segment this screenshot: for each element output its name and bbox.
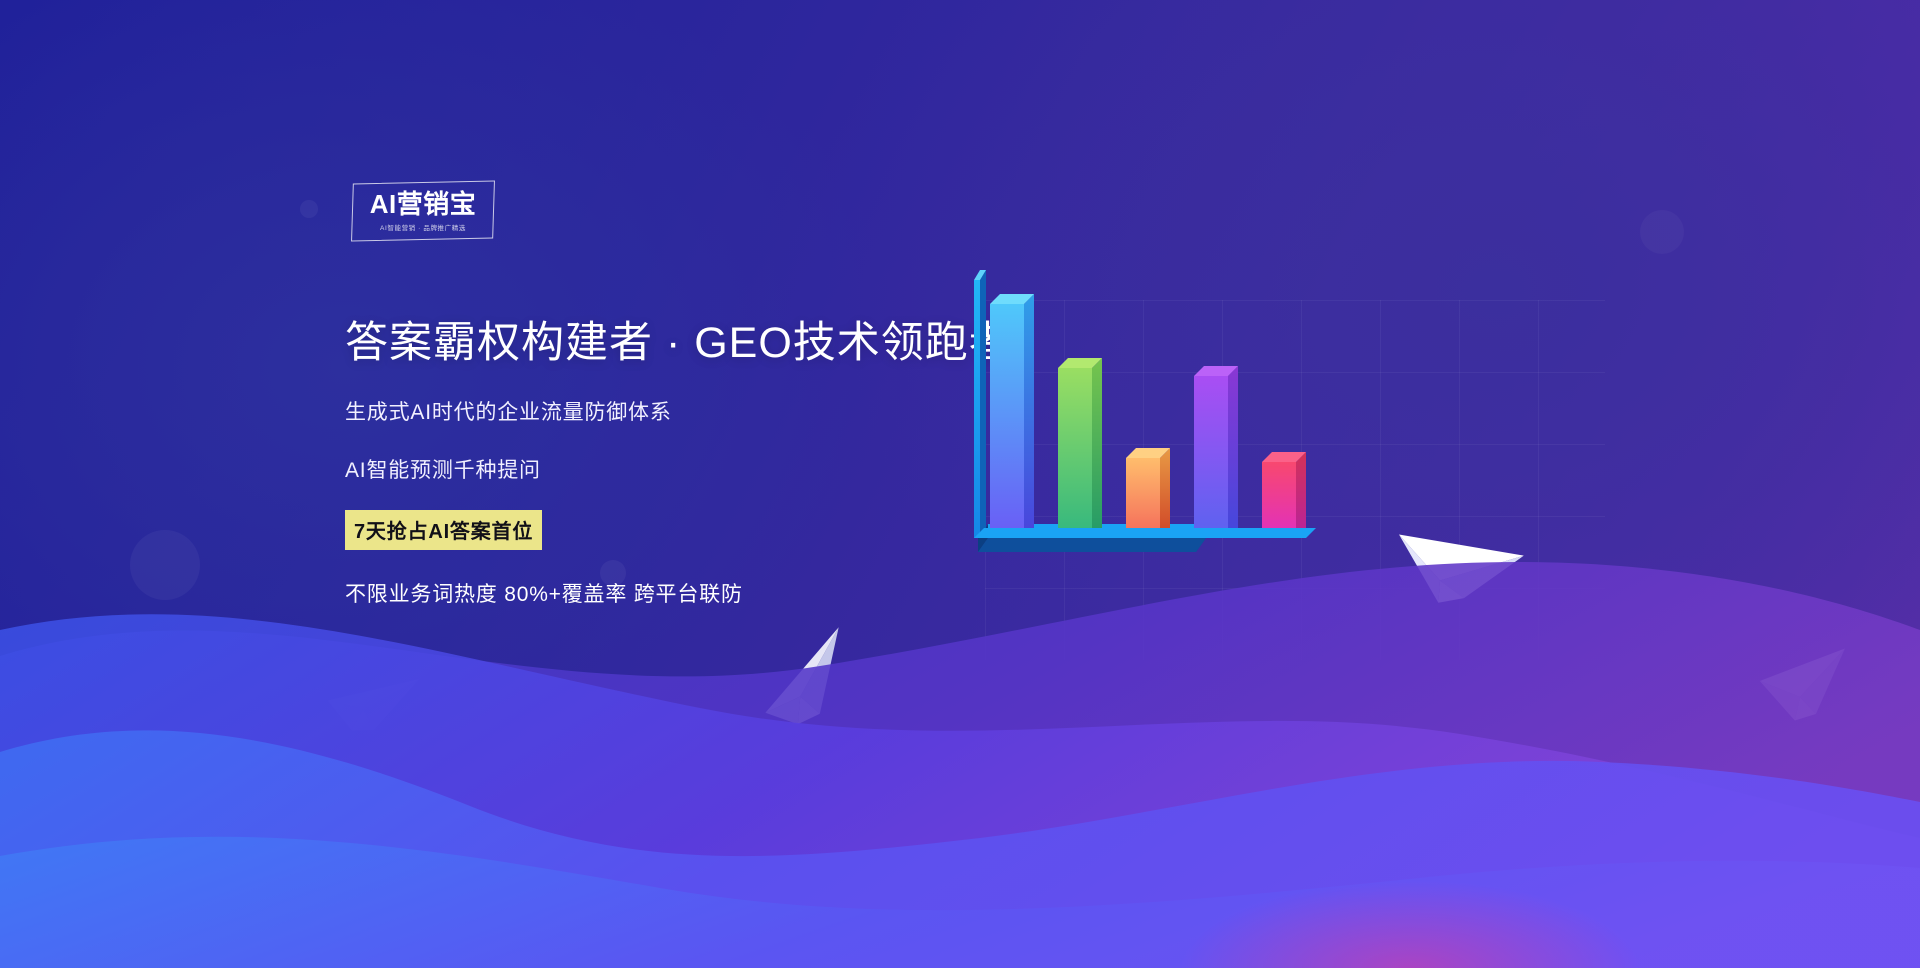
chart-bar-2	[1058, 358, 1102, 538]
chart-bar-4	[1194, 366, 1238, 538]
brand-logo[interactable]: AI营销宝 AI智能营销 · 品牌推广精选	[352, 182, 494, 240]
deco-circle-3	[1640, 210, 1684, 254]
hero-banner: AI营销宝 AI智能营销 · 品牌推广精选 答案霸权构建者 · GEO技术领跑者…	[0, 0, 1920, 968]
deco-circle-4	[300, 200, 318, 218]
logo-wordmark: AI营销宝	[352, 191, 494, 217]
page-title: 答案霸权构建者 · GEO技术领跑者	[345, 318, 1065, 370]
chart-y-axis	[974, 270, 986, 538]
logo-tagline: AI智能营销 · 品牌推广精选	[352, 222, 494, 232]
chart-bar-5	[1262, 452, 1306, 538]
hero-subtitle-1: 生成式AI时代的企业流量防御体系	[345, 396, 1065, 426]
chart-bar-1	[990, 294, 1034, 538]
background-waves	[0, 538, 1920, 968]
hero-subtitle-2: AI智能预测千种提问	[345, 454, 1065, 484]
